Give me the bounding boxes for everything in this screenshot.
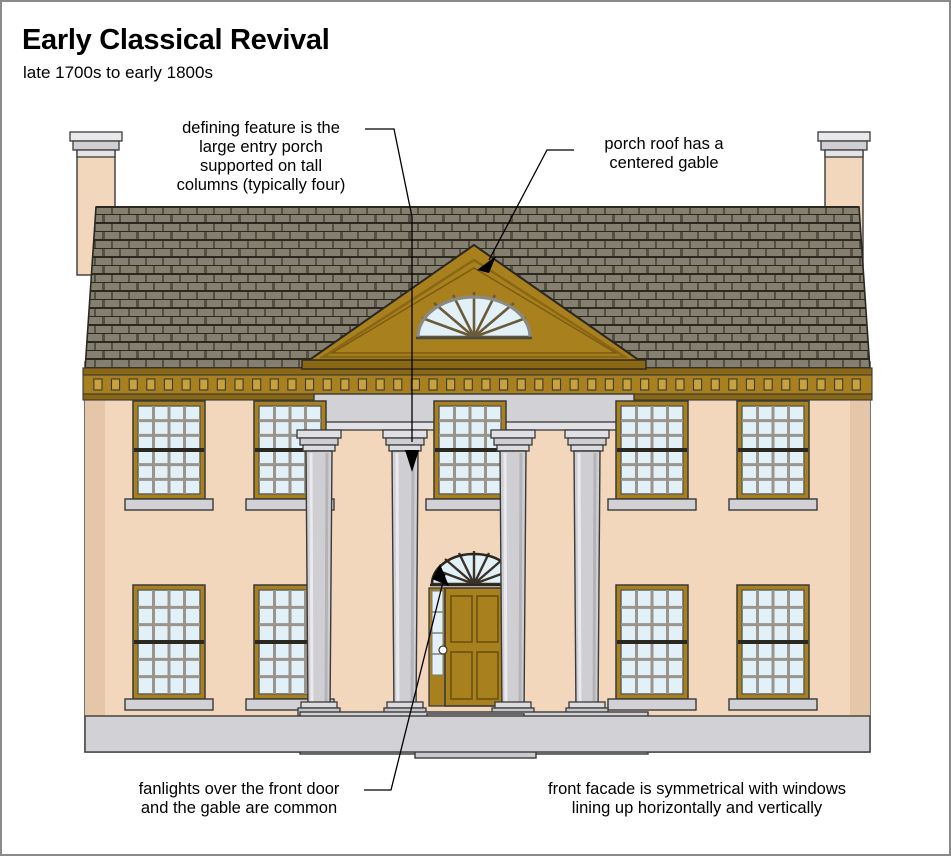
illustration-page: Early Classical Revival late 1700s to ea… [0, 0, 951, 856]
doorknob[interactable] [439, 646, 447, 654]
annotation-fanlights: fanlights over the front door and the ga… [100, 780, 378, 818]
front-door[interactable] [439, 588, 503, 706]
annotation-symmetry: front facade is symmetrical with windows… [502, 780, 892, 818]
window [608, 401, 696, 510]
window [125, 401, 213, 510]
window [729, 585, 817, 710]
window [608, 585, 696, 710]
annotation-porch-gable: porch roof has a centered gable [580, 135, 748, 173]
house-elevation-illustration [2, 2, 951, 856]
window [125, 585, 213, 710]
annotation-porch-columns: defining feature is the large entry porc… [147, 119, 375, 196]
window [729, 401, 817, 510]
foundation-band [85, 716, 870, 752]
